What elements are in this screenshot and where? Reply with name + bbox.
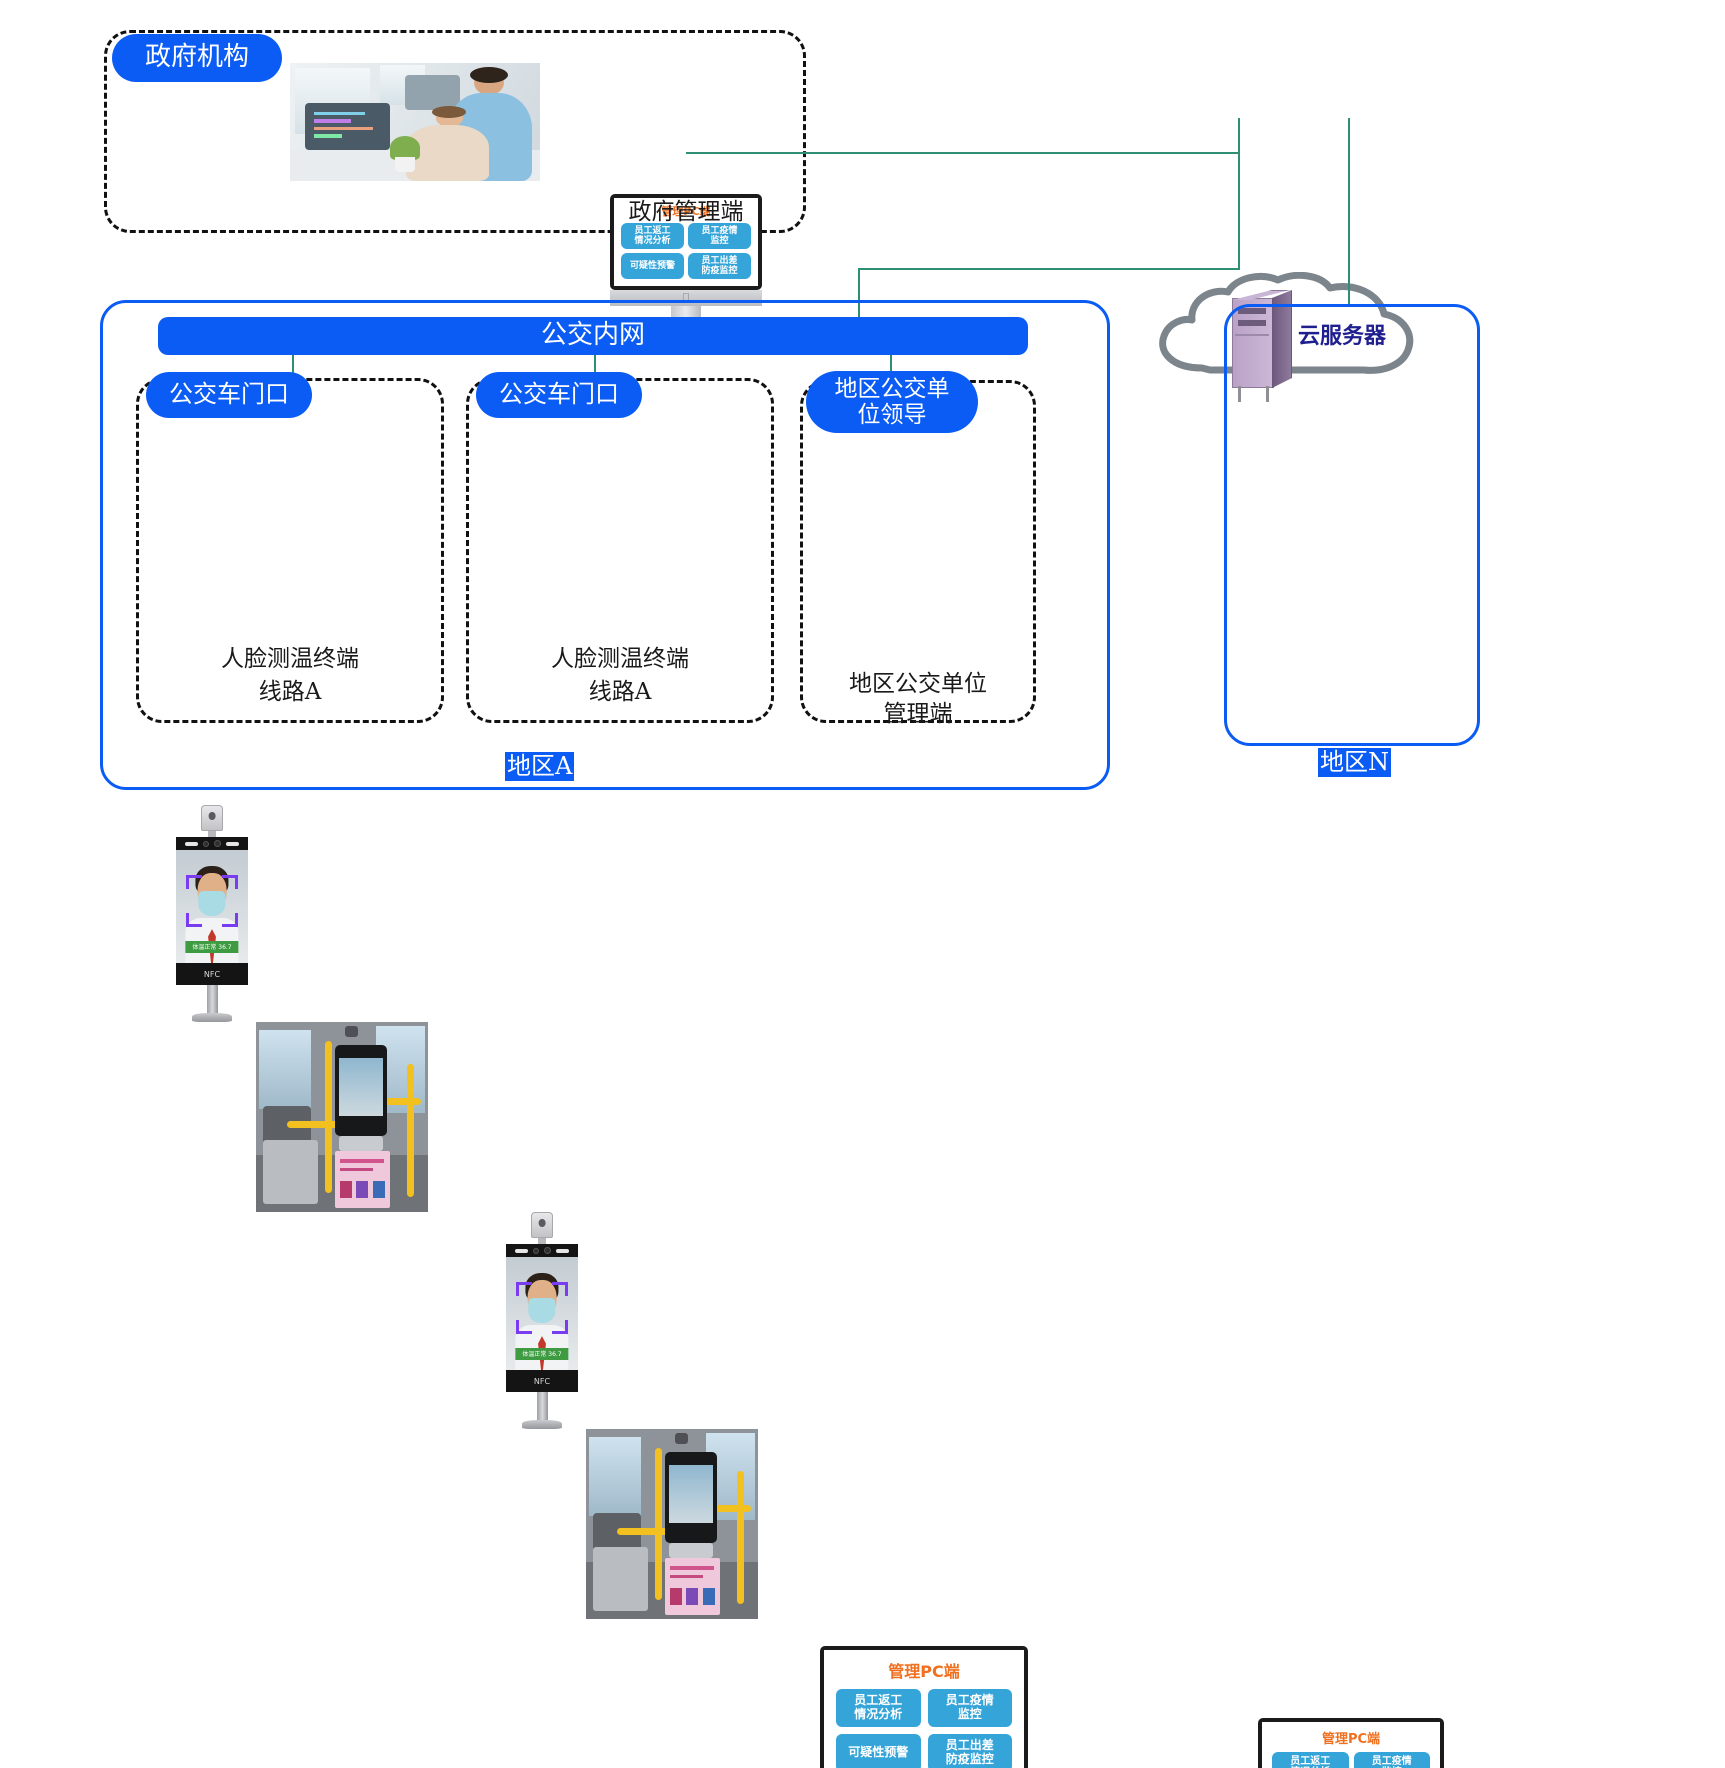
- terminal-temp-readout-2: 体温正常 36.7: [515, 1348, 568, 1360]
- region-n-pc-monitor: 管理PC端 员工返工情况分析 员工疫情监控 可疑性预警 员工出差防疫监控 : [1258, 1718, 1444, 1768]
- bus-door-route-caption-1: 线路A: [150, 678, 430, 707]
- bus-door-pill-2[interactable]: 公交车门口: [476, 372, 642, 418]
- region-n-panel: [1224, 304, 1480, 746]
- region-leader-caption-line1: 地区公交单位: [812, 670, 1024, 699]
- government-pill[interactable]: 政府机构: [112, 34, 282, 82]
- bus-door-pill-label-1: 公交车门口: [169, 381, 289, 409]
- region-leader-pc-monitor: 管理PC端 员工返工情况分析 员工疫情监控 可疑性预警 员工出差防疫监控 : [820, 1646, 1028, 1768]
- terminal-brand-mark-1: NFC: [204, 970, 220, 979]
- pc-btn-travel-monitor[interactable]: 员工出差防疫监控: [688, 253, 751, 279]
- region-leader-pill-line1: 地区公交单: [835, 376, 950, 402]
- region-leader-caption-line2: 管理端: [812, 700, 1024, 729]
- bus-interior-photo-1: [256, 1022, 428, 1212]
- connector-gov-to-cloud: [686, 152, 1238, 154]
- bus-door-pill-label-2: 公交车门口: [499, 381, 619, 409]
- pc-btn-suspicious-alert[interactable]: 可疑性预警: [621, 253, 684, 279]
- connector-cloud-to-intranet-h: [858, 268, 1240, 270]
- leader-pc-btn-return-analysis[interactable]: 员工返工情况分析: [836, 1689, 921, 1727]
- region-a-tag-wrap: 地区A: [505, 752, 574, 781]
- leader-pc-btn-travel-monitor[interactable]: 员工出差防疫监控: [928, 1734, 1013, 1768]
- government-pill-label: 政府机构: [145, 43, 249, 73]
- region-leader-pill[interactable]: 地区公交单 位领导: [806, 371, 978, 433]
- region-n-tag-wrap: 地区N: [1318, 748, 1391, 777]
- bus-door-device-caption-1: 人脸测温终端: [150, 645, 430, 674]
- connector-cloud-down: [1238, 118, 1240, 268]
- bus-door-route-caption-2: 线路A: [480, 678, 760, 707]
- region-n-pc-panel-title: 管理PC端: [1322, 1728, 1380, 1747]
- office-photo: [290, 63, 540, 181]
- terminal-brand-mark-2: NFC: [534, 1377, 550, 1386]
- face-temp-terminal-2: 体温正常 36.7 NFC: [506, 1212, 578, 1429]
- region-n-pc-btn-epidemic-monitor[interactable]: 员工疫情监控: [1354, 1752, 1431, 1768]
- face-temp-terminal-1: 体温正常 36.7 NFC: [176, 805, 248, 1022]
- intranet-label: 公交内网: [541, 321, 645, 351]
- leader-pc-btn-epidemic-monitor[interactable]: 员工疫情监控: [928, 1689, 1013, 1727]
- leader-pc-btn-suspicious-alert[interactable]: 可疑性预警: [836, 1734, 921, 1768]
- region-n-pc-btn-return-analysis[interactable]: 员工返工情况分析: [1272, 1752, 1349, 1768]
- pc-btn-return-analysis[interactable]: 员工返工情况分析: [621, 223, 684, 249]
- bus-interior-photo-2: [586, 1429, 758, 1619]
- pc-btn-epidemic-monitor[interactable]: 员工疫情监控: [688, 223, 751, 249]
- bus-door-device-caption-2: 人脸测温终端: [480, 645, 760, 674]
- leader-pc-panel-title: 管理PC端: [888, 1658, 959, 1682]
- connector-cloud-to-region-n: [1348, 118, 1350, 306]
- intranet-bar[interactable]: 公交内网: [158, 317, 1028, 355]
- government-terminal-caption: 政府管理端: [610, 198, 762, 227]
- terminal-temp-readout-1: 体温正常 36.7: [185, 941, 238, 953]
- bus-door-pill-1[interactable]: 公交车门口: [146, 372, 312, 418]
- region-n-tag: 地区N: [1318, 748, 1391, 777]
- region-a-tag: 地区A: [505, 752, 574, 781]
- region-leader-pill-line2: 位领导: [858, 402, 927, 428]
